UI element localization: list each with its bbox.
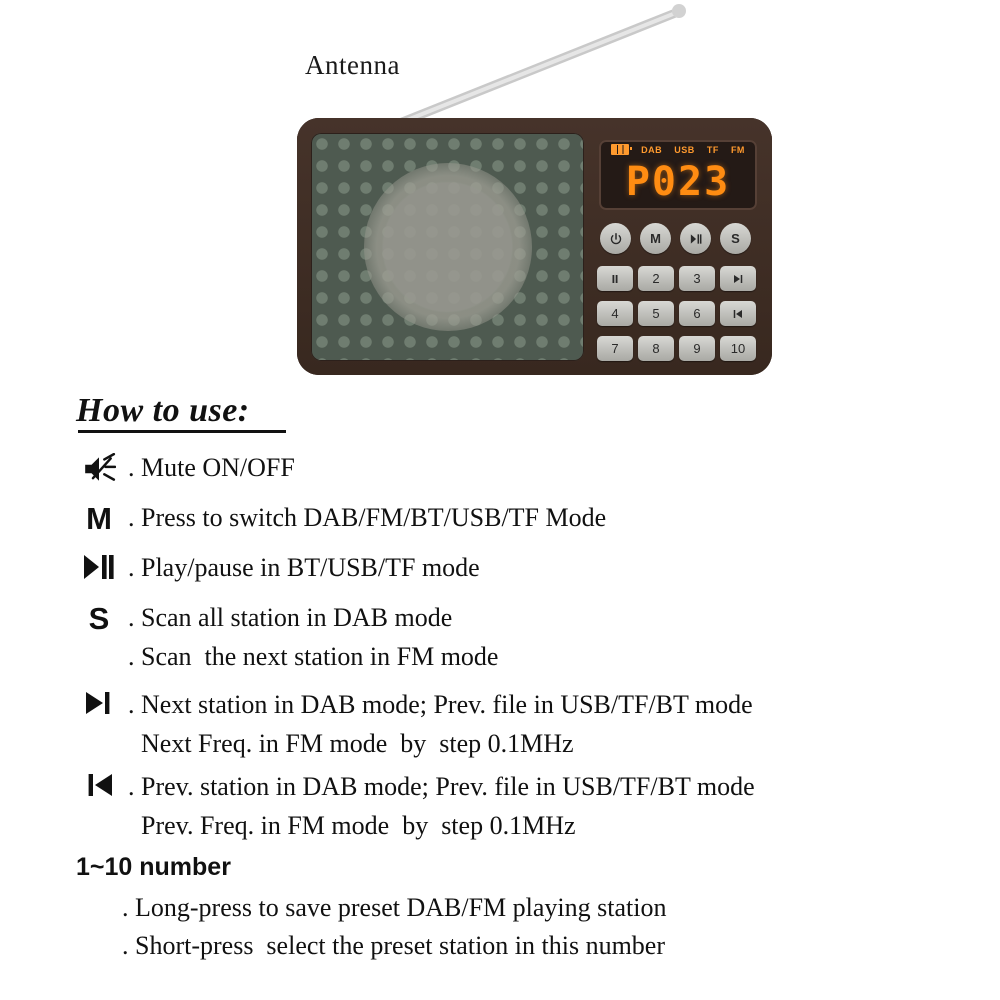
keypad-9[interactable]: 9 — [679, 336, 715, 361]
howto-text-scan-2: . Scan the next station in FM mode — [128, 642, 498, 673]
howto-text-prev-1: . Prev. station in DAB mode; Prev. file … — [128, 772, 755, 803]
howto-text-scan-1: . Scan all station in DAB mode — [128, 603, 498, 634]
keypad-8[interactable]: 8 — [638, 336, 674, 361]
scan-letter-s-icon: S — [70, 603, 128, 634]
keypad-3[interactable]: 3 — [679, 266, 715, 291]
mode-button[interactable]: M — [640, 223, 671, 254]
dab-indicator: DAB — [641, 145, 662, 155]
usb-indicator: USB — [674, 145, 695, 155]
keypad-play-pause[interactable] — [597, 266, 633, 291]
tf-indicator: TF — [707, 145, 719, 155]
title-underline — [78, 430, 286, 433]
pause-icon — [609, 273, 621, 285]
number-section-line-1: . Long-press to save preset DAB/FM playi… — [122, 893, 667, 924]
howto-row-mode: M . Press to switch DAB/FM/BT/USB/TF Mod… — [70, 503, 990, 534]
howto-row-mute: . Mute ON/OFF — [70, 453, 990, 485]
scan-button[interactable]: S — [720, 223, 751, 254]
mute-icon — [70, 453, 128, 485]
device-illustration: Antenna DAB USB TF FM P023 M — [0, 0, 1000, 395]
play-pause-icon — [688, 232, 703, 246]
keypad-next[interactable] — [720, 266, 756, 291]
number-section-heading: 1~10 number — [76, 853, 231, 882]
display-value: P023 — [599, 158, 757, 206]
howto-row-scan: S . Scan all station in DAB mode . Scan … — [70, 603, 990, 672]
radio-device: DAB USB TF FM P023 M S — [297, 118, 772, 375]
fm-indicator: FM — [731, 145, 745, 155]
keypad-2[interactable]: 2 — [638, 266, 674, 291]
next-track-icon — [731, 273, 745, 285]
prev-track-icon — [731, 308, 745, 320]
speaker-grille — [311, 133, 584, 361]
howto-text-playpause: . Play/pause in BT/USB/TF mode — [128, 553, 480, 584]
howto-row-prev: . Prev. station in DAB mode; Prev. file … — [70, 772, 990, 841]
keypad-4[interactable]: 4 — [597, 301, 633, 326]
antenna-label: Antenna — [305, 50, 400, 81]
display-indicator-row: DAB USB TF FM — [599, 144, 757, 155]
keypad-7[interactable]: 7 — [597, 336, 633, 361]
power-button[interactable] — [600, 223, 631, 254]
howto-text-prev-2: Prev. Freq. in FM mode by step 0.1MHz — [128, 811, 755, 842]
next-track-icon — [70, 690, 128, 716]
keypad-6[interactable]: 6 — [679, 301, 715, 326]
howto-row-next: . Next station in DAB mode; Prev. file i… — [70, 690, 990, 759]
howto-row-playpause: . Play/pause in BT/USB/TF mode — [70, 553, 990, 584]
play-pause-button[interactable] — [680, 223, 711, 254]
power-icon — [609, 232, 623, 246]
play-pause-icon — [70, 553, 128, 581]
prev-track-icon — [70, 772, 128, 798]
speaker-cone — [364, 163, 532, 331]
keypad-10[interactable]: 10 — [720, 336, 756, 361]
battery-icon — [611, 144, 629, 155]
lcd-display: DAB USB TF FM P023 — [599, 140, 757, 210]
howto-text-mode: . Press to switch DAB/FM/BT/USB/TF Mode — [128, 503, 606, 534]
howto-text-next-2: Next Freq. in FM mode by step 0.1MHz — [128, 729, 753, 760]
howto-text-next-1: . Next station in DAB mode; Prev. file i… — [128, 690, 753, 721]
number-section-line-2: . Short-press select the preset station … — [122, 931, 665, 962]
keypad-prev[interactable] — [720, 301, 756, 326]
page-title: How to use: — [76, 392, 250, 430]
keypad-5[interactable]: 5 — [638, 301, 674, 326]
mode-letter-m-icon: M — [70, 503, 128, 534]
howto-text-mute: . Mute ON/OFF — [128, 453, 295, 484]
